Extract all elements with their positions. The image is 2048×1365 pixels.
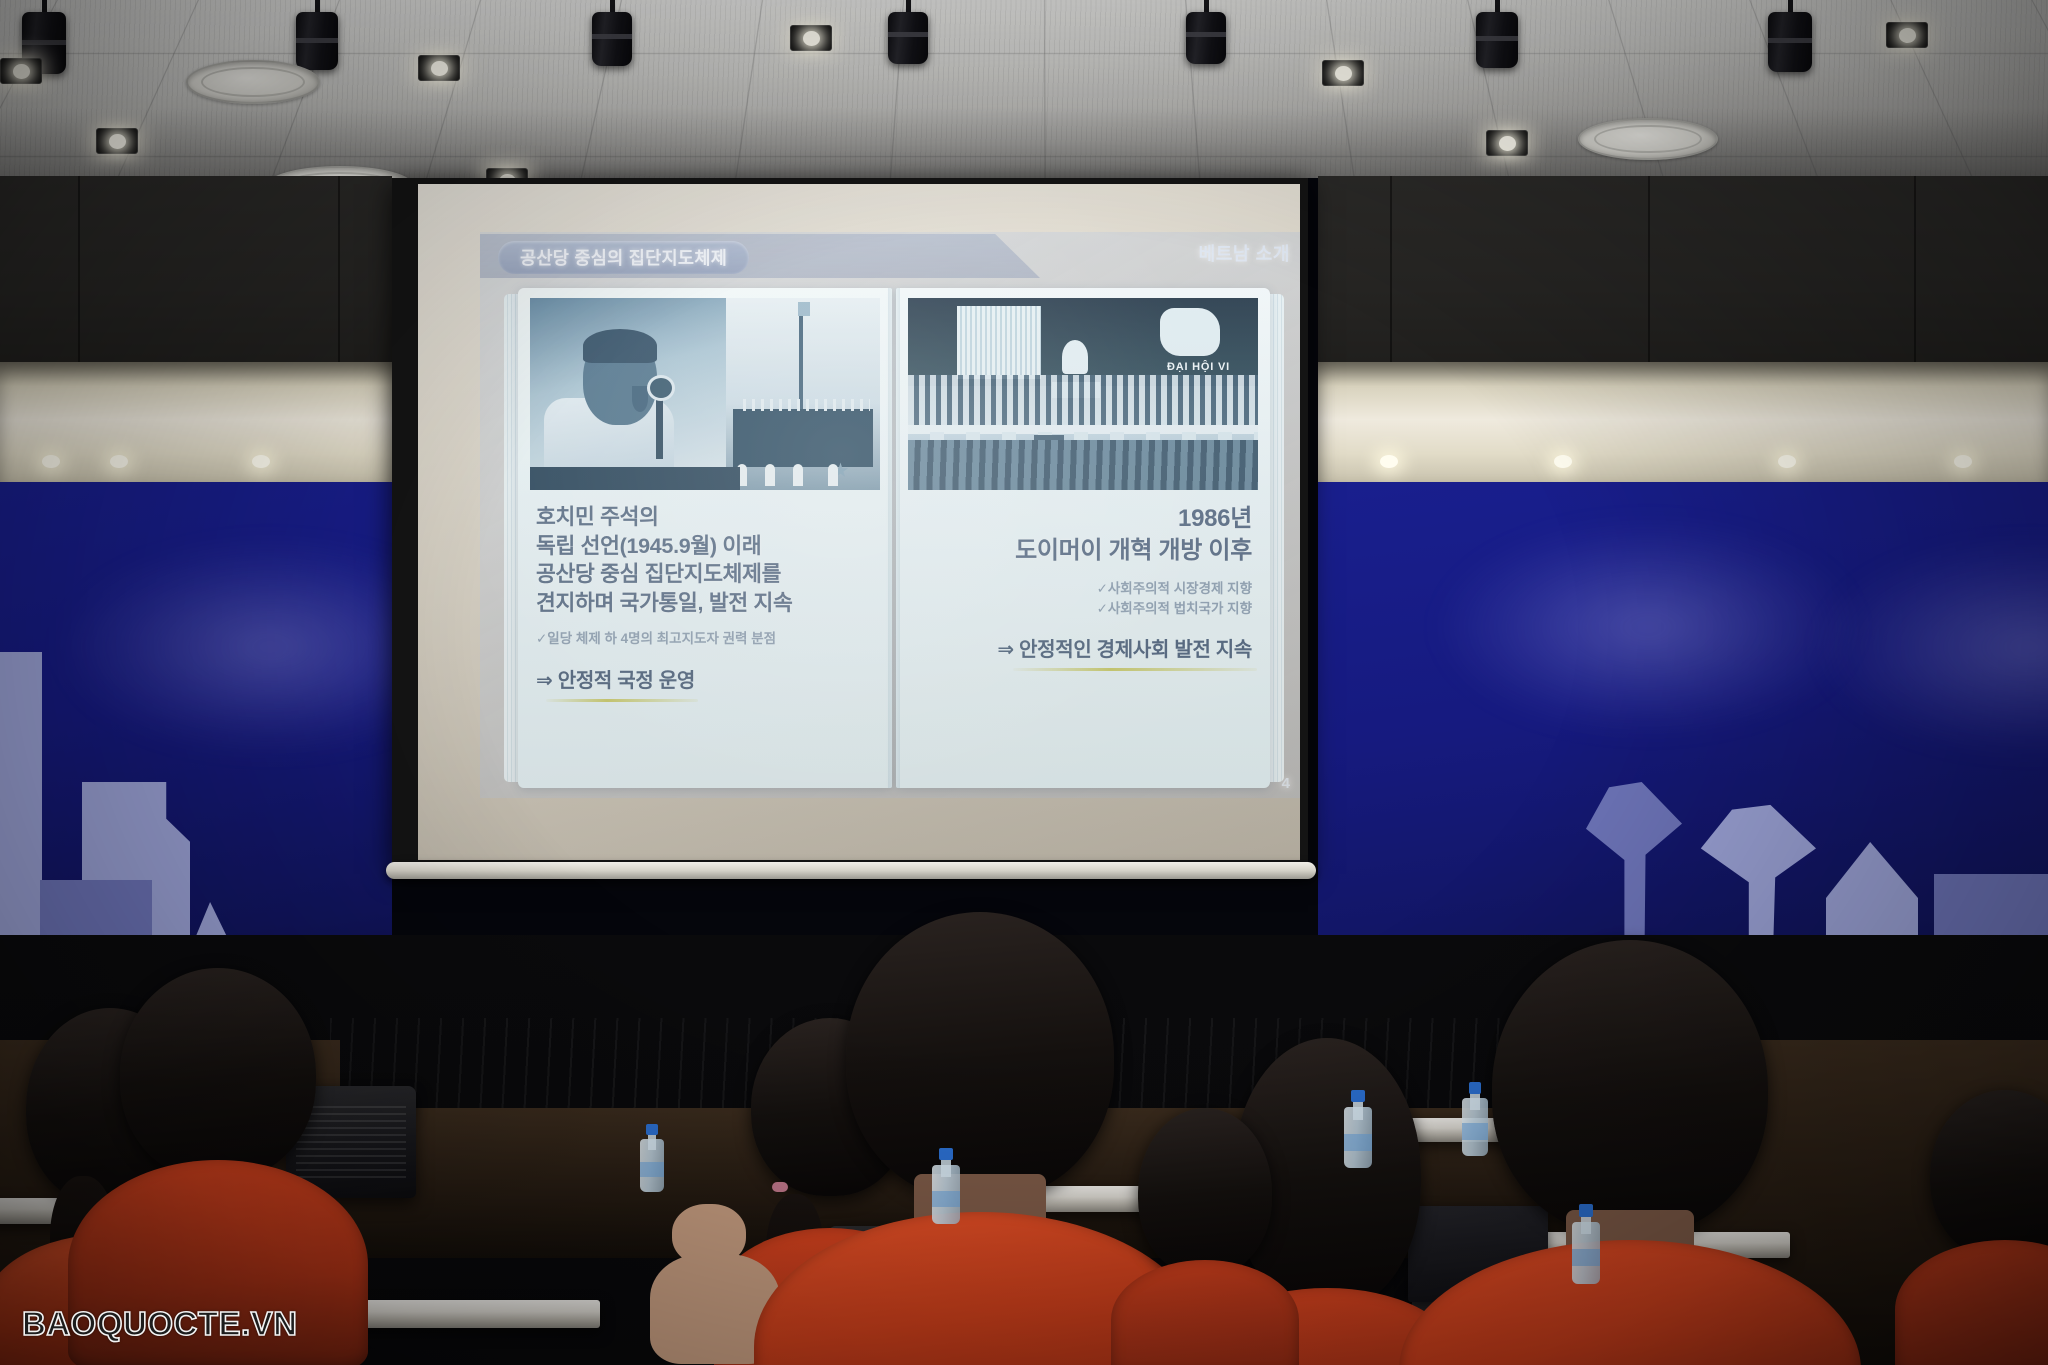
right-bullet: ✓사회주의적 시장경제 지향 bbox=[914, 579, 1252, 599]
water-bottle bbox=[932, 1148, 960, 1224]
left-line: 호치민 주석의 bbox=[536, 503, 874, 532]
left-line: 독립 선언(1945.9월) 이래 bbox=[536, 532, 874, 561]
right-page-text: 1986년 도이머이 개혁 개방 이후 ✓사회주의적 시장경제 지향 ✓사회주의… bbox=[914, 503, 1252, 662]
recessed-square-light-icon bbox=[418, 55, 460, 81]
projection-screen-surface: 공산당 중심의 집단지도체제 베트남 소개 bbox=[418, 184, 1300, 860]
left-line: 견지하며 국가통일, 발전 지속 bbox=[536, 589, 874, 618]
right-conclusion: ⇒ 안정적인 경제사회 발전 지속 bbox=[997, 633, 1252, 662]
left-conclusion-text: ⇒ 안정적 국정 운영 bbox=[536, 670, 695, 692]
slide-title-text: 공산당 중심의 집단지도체제 bbox=[520, 245, 727, 270]
track-light-icon bbox=[1476, 0, 1518, 56]
track-light-icon bbox=[1768, 0, 1812, 60]
hair bbox=[1930, 1090, 2048, 1260]
water-bottle bbox=[1462, 1082, 1488, 1156]
audience-member bbox=[1130, 1108, 1280, 1365]
recessed-square-light-icon bbox=[96, 128, 138, 154]
photo-party-congress-vi: ĐẠI HỘI VI bbox=[908, 298, 1258, 490]
round-diffuser-icon bbox=[1578, 118, 1718, 160]
right-conclusion-text: ⇒ 안정적인 경제사회 발전 지속 bbox=[997, 639, 1252, 661]
projection-screen-frame: 공산당 중심의 집단지도체제 베트남 소개 bbox=[392, 178, 1308, 868]
right-line: 1986년 bbox=[914, 503, 1252, 535]
orange-shirt bbox=[1111, 1260, 1299, 1365]
left-acoustic-panel bbox=[0, 176, 392, 362]
audience-member bbox=[830, 912, 1130, 1365]
left-conclusion-underline bbox=[546, 699, 699, 702]
left-conclusion: ⇒ 안정적 국정 운영 bbox=[536, 664, 695, 693]
audience-member bbox=[1480, 940, 1780, 1365]
right-conclusion-underline bbox=[1013, 668, 1258, 671]
track-light-icon bbox=[296, 0, 338, 58]
screen-bottom-roller-bar bbox=[386, 862, 1316, 879]
slide-book-graphic: 호치민 주석의 독립 선언(1945.9월) 이래 공산당 중심 집단지도체제를… bbox=[488, 288, 1300, 788]
hair bbox=[1492, 940, 1768, 1236]
ho-chi-minh-portrait-icon bbox=[1160, 308, 1220, 356]
recessed-square-light-icon bbox=[790, 25, 832, 51]
book-page-right: ĐẠI HỘI VI 1986년 bbox=[896, 288, 1270, 788]
recessed-square-light-icon bbox=[1322, 60, 1364, 86]
track-light-icon bbox=[888, 0, 928, 52]
right-line: 도이머이 개혁 개방 이후 bbox=[914, 535, 1252, 567]
hair-tie bbox=[772, 1182, 788, 1192]
track-light-icon bbox=[592, 0, 632, 54]
track-light-icon bbox=[1186, 0, 1226, 52]
lecture-hall-photo: 공산당 중심의 집단지도체제 베트남 소개 bbox=[0, 0, 2048, 1365]
right-acoustic-panel bbox=[1318, 176, 2048, 362]
book-page-left: 호치민 주석의 독립 선언(1945.9월) 이래 공산당 중심 집단지도체제를… bbox=[518, 288, 892, 788]
slide-section-label: 베트남 소개 bbox=[1199, 240, 1290, 266]
track-light-icon bbox=[22, 0, 66, 62]
presentation-slide: 공산당 중심의 집단지도체제 베트남 소개 bbox=[480, 232, 1300, 798]
book-spine bbox=[888, 288, 900, 788]
slide-page-number: 4 bbox=[1282, 775, 1290, 792]
water-bottle bbox=[1344, 1090, 1372, 1168]
recessed-square-light-icon bbox=[1486, 130, 1528, 156]
left-bullet: ✓일당 체제 하 4명의 최고지도자 권력 분점 bbox=[536, 629, 874, 649]
congress-logo-caption: ĐẠI HỘI VI bbox=[1157, 361, 1241, 373]
slide-header: 공산당 중심의 집단지도체제 베트남 소개 bbox=[480, 232, 1300, 296]
right-bullet: ✓사회주의적 법치국가 지향 bbox=[914, 599, 1252, 619]
hair bbox=[846, 912, 1114, 1200]
watermark: BAOQUOCTE.VN bbox=[22, 1305, 298, 1343]
book-page-edge-left bbox=[504, 294, 518, 782]
left-line: 공산당 중심 집단지도체제를 bbox=[536, 560, 874, 589]
hair bbox=[120, 968, 316, 1180]
left-cove-light-band bbox=[0, 362, 392, 482]
slide-title-badge: 공산당 중심의 집단지도체제 bbox=[498, 241, 749, 274]
water-bottle bbox=[640, 1124, 664, 1192]
water-bottle bbox=[1572, 1204, 1600, 1284]
round-diffuser-icon bbox=[186, 60, 320, 104]
recessed-square-light-icon bbox=[1886, 22, 1928, 48]
right-cove-light-band bbox=[1318, 362, 2048, 482]
photo-ho-chi-minh-declaration bbox=[530, 298, 880, 490]
audience-member bbox=[1920, 1090, 2048, 1365]
left-page-text: 호치민 주석의 독립 선언(1945.9월) 이래 공산당 중심 집단지도체제를… bbox=[536, 503, 874, 693]
hair bbox=[1138, 1108, 1272, 1276]
recessed-square-light-icon bbox=[0, 58, 42, 84]
book-page-edge-right bbox=[1270, 294, 1284, 782]
